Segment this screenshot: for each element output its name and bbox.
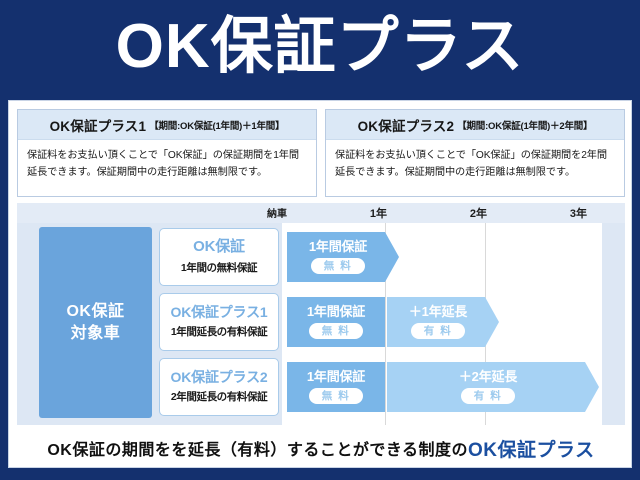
coverage-fee-badge-label: 有 料 [474,391,502,402]
coverage-segment-label: ＋2年延長 [459,370,517,383]
caption-main-text: OK保証の期間をを延長（有料）することができる制度の [47,436,468,460]
plan-label-title: OK保証 [193,239,245,256]
coverage-fee-badge: 有 料 [461,388,515,404]
content-card: OK保証プラス1 【期間:OK保証(1年間)＋1年間】 保証料をお支払い頂くこと… [8,100,632,468]
info-box-plus1-header: OK保証プラス1 【期間:OK保証(1年間)＋1年間】 [18,110,316,140]
coverage-segment-label: 1年間保証 [309,240,367,253]
coverage-segment: 1年間保証無 料 [287,362,385,412]
timeline-row: OK保証1年間の無料保証1年間保証無 料 [17,228,625,286]
plan-label-subtitle: 1年間延長の有料保証 [171,324,267,339]
timeline-axis: 納車1年2年3年 [17,203,625,223]
coverage-segment: 1年間保証無 料 [287,232,399,282]
timeline-row: OK保証プラス22年間延長の有料保証1年間保証無 料＋2年延長有 料 [17,358,625,416]
warranty-infographic: OK保証プラス OK保証プラス1 【期間:OK保証(1年間)＋1年間】 保証料を… [0,0,640,480]
timeline-row: OK保証プラス11年間延長の有料保証1年間保証無 料＋1年延長有 料 [17,293,625,351]
coverage-fee-badge: 有 料 [411,323,465,339]
plan-label-box: OK保証1年間の無料保証 [159,228,279,286]
coverage-segment: ＋1年延長有 料 [387,297,499,347]
plan-label-box: OK保証プラス11年間延長の有料保証 [159,293,279,351]
info-box-plus2: OK保証プラス2 【期間:OK保証(1年間)＋2年間】 保証料をお支払い頂くこと… [325,109,625,197]
axis-tick-2年: 2年 [470,205,491,221]
info-box-plus2-heading-sub: 【期間:OK保証(1年間)＋2年間】 [457,118,592,132]
plan-label-subtitle: 2年間延長の有料保証 [171,389,267,404]
coverage-segment-label: 1年間保証 [307,305,365,318]
info-box-row: OK保証プラス1 【期間:OK保証(1年間)＋1年間】 保証料をお支払い頂くこと… [17,109,625,197]
plan-label-box: OK保証プラス22年間延長の有料保証 [159,358,279,416]
coverage-fee-badge-label: 無 料 [322,391,350,402]
info-box-plus2-heading-main: OK保証プラス2 [358,115,455,135]
info-box-plus2-body: 保証料をお支払い頂くことで「OK保証」の保証期間を2年間延長できます。保証期間中… [326,140,624,196]
info-box-plus1-heading-main: OK保証プラス1 [50,115,147,135]
coverage-fee-badge: 無 料 [309,323,363,339]
page-title: OK保証プラス [116,16,525,78]
coverage-fee-badge-label: 無 料 [322,326,350,337]
axis-tick-1年: 1年 [370,205,391,221]
coverage-segment: ＋2年延長有 料 [387,362,599,412]
caption-accent-text: OK保証プラス [468,435,595,462]
axis-tick-3年: 3年 [570,205,591,221]
info-box-plus2-header: OK保証プラス2 【期間:OK保証(1年間)＋2年間】 [326,110,624,140]
coverage-fee-badge-label: 有 料 [424,326,452,337]
coverage-fee-badge-label: 無 料 [324,261,352,272]
plan-label-title: OK保証プラス2 [171,370,268,385]
coverage-fee-badge: 無 料 [311,258,365,274]
plan-label-subtitle: 1年間の無料保証 [181,260,257,275]
coverage-segment-label: 1年間保証 [307,370,365,383]
plan-label-title: OK保証プラス1 [171,305,268,320]
warranty-timeline-chart: 納車1年2年3年 OK保証対象車 OK保証1年間の無料保証1年間保証無 料OK保… [17,203,625,425]
coverage-segment-label: ＋1年延長 [409,305,467,318]
axis-tick-納車: 納車 [267,205,291,220]
bottom-caption: OK保証の期間をを延長（有料）することができる制度の OK保証プラス [17,429,625,467]
coverage-segment: 1年間保証無 料 [287,297,385,347]
info-box-plus1-body: 保証料をお支払い頂くことで「OK保証」の保証期間を1年間延長できます。保証期間中… [18,140,316,196]
coverage-fee-badge: 無 料 [309,388,363,404]
info-box-plus1: OK保証プラス1 【期間:OK保証(1年間)＋1年間】 保証料をお支払い頂くこと… [17,109,317,197]
title-banner: OK保証プラス [0,0,640,98]
info-box-plus1-heading-sub: 【期間:OK保証(1年間)＋1年間】 [149,118,284,132]
